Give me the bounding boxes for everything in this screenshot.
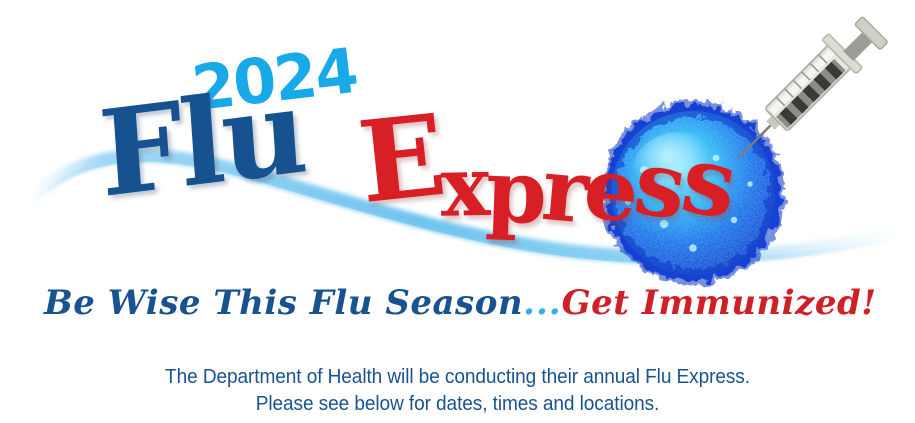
tagline: Be Wise This Flu Season...Get Immunized!: [44, 286, 874, 320]
body-copy-line-2: Please see below for dates, times and lo…: [32, 390, 883, 417]
syringe-icon: [700, 0, 915, 186]
logo-year: 2024: [189, 40, 360, 120]
flu-express-poster: 2024 Flu Express Be Wise This Flu Season…: [0, 0, 915, 423]
logo-word-flu: Flu: [96, 71, 308, 214]
tagline-dots: ...: [523, 286, 562, 320]
body-copy-line-1: The Department of Health will be conduct…: [32, 363, 883, 390]
body-copy: The Department of Health will be conduct…: [0, 363, 915, 417]
tagline-part-two: Get Immunized!: [562, 286, 877, 320]
tagline-part-one: Be Wise This Flu Season: [44, 286, 523, 320]
